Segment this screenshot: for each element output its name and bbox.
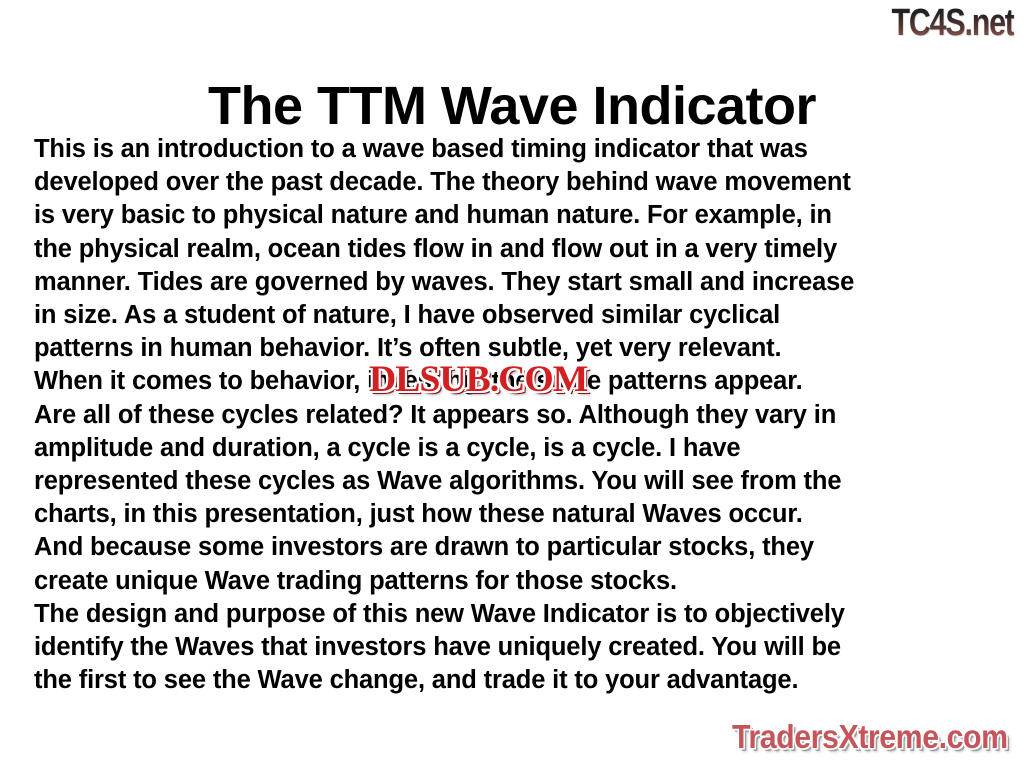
body-line: This is an introduction to a wave based … <box>34 133 1002 166</box>
presentation-slide: TC4S.net The TTM Wave Indicator This is … <box>0 0 1024 768</box>
tradersxtreme-logo: TradersXtreme.com <box>732 718 1008 756</box>
body-line: charts, in this presentation, just how t… <box>34 498 1002 531</box>
body-paragraph: The design and purpose of this new Wave … <box>34 598 1002 698</box>
body-line: is very basic to physical nature and hum… <box>34 199 1002 232</box>
page-title: The TTM Wave Indicator <box>0 76 1024 136</box>
body-line: manner. Tides are governed by waves. The… <box>34 266 1002 299</box>
body-line: The design and purpose of this new Wave … <box>34 598 1002 631</box>
body-line: the physical realm, ocean tides flow in … <box>34 233 1002 266</box>
body-line: identify the Waves that investors have u… <box>34 631 1002 664</box>
body-line: the first to see the Wave change, and tr… <box>34 664 1002 697</box>
body-line: in size. As a student of nature, I have … <box>34 299 1002 332</box>
body-line: create unique Wave trading patterns for … <box>34 565 1002 598</box>
body-line: amplitude and duration, a cycle is a cyc… <box>34 432 1002 465</box>
body-line: developed over the past decade. The theo… <box>34 166 1002 199</box>
body-line: And because some investors are drawn to … <box>34 531 1002 564</box>
body-line: Are all of these cycles related? It appe… <box>34 399 1002 432</box>
body-copy: This is an introduction to a wave based … <box>34 133 1002 697</box>
tc4s-logo: TC4S.net <box>892 2 1014 44</box>
body-line: represented these cycles as Wave algorit… <box>34 465 1002 498</box>
dlsub-watermark: DLSUB.COM <box>369 360 587 400</box>
